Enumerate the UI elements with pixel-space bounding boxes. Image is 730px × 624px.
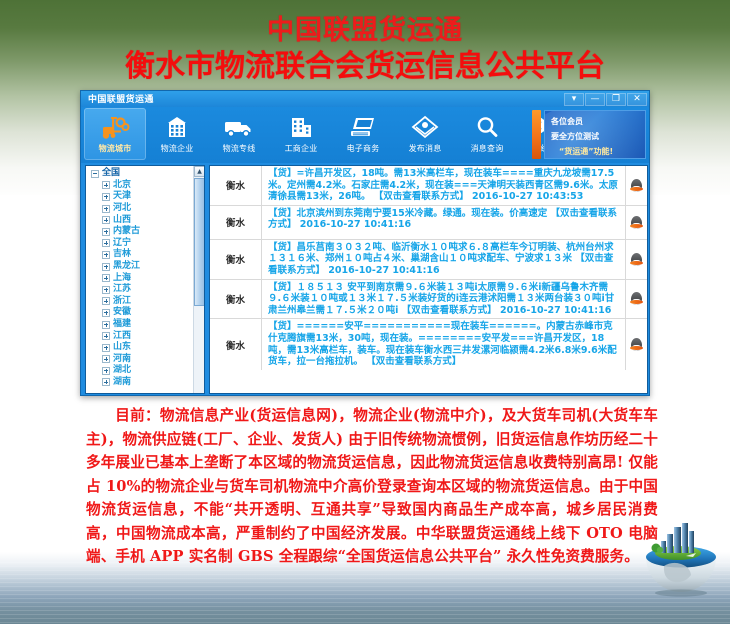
page-title: 中国联盟货运通 衡水市物流联合会货运信息公共平台	[0, 14, 730, 86]
toolbar-item-label: 消息查询	[471, 143, 504, 154]
close-icon[interactable]: ✕	[627, 93, 647, 106]
promo-banner[interactable]: 各位会员 要全方位测试 “货运通”功能!	[544, 110, 646, 159]
scroll-up-icon[interactable]: ▲	[194, 166, 205, 177]
row-city: 衡水	[210, 240, 262, 279]
tree-node-label: 湖北	[113, 365, 131, 376]
tree-node-jilin[interactable]: 吉林	[89, 249, 204, 261]
tree-node-label: 天津	[113, 191, 131, 202]
tree-node-neimenggu[interactable]: 内蒙古	[89, 226, 204, 238]
toolbar-item-ecommerce[interactable]: 电子商务	[332, 108, 394, 160]
freight-message-list[interactable]: 衡水 【货】=许昌开发区，18吨。需13米高栏车，现在装车====重庆九龙坡需1…	[209, 165, 648, 394]
tree-node-label: 全国	[102, 168, 120, 179]
expand-icon[interactable]	[102, 205, 110, 213]
expand-icon[interactable]	[102, 367, 110, 375]
tree-node-label: 河北	[113, 203, 131, 214]
tree-node-hebei[interactable]: 河北	[89, 203, 204, 215]
row-contact-button[interactable]	[625, 166, 647, 205]
tree-node-label: 河南	[113, 354, 131, 365]
row-city: 衡水	[210, 206, 262, 239]
expand-icon[interactable]	[102, 286, 110, 294]
tree-node-label: 内蒙古	[113, 226, 140, 237]
window-content: 全国 北京 天津 河北 山西 内蒙古 辽宁 吉林 黑龙江 上海 江苏 浙江 安徽…	[81, 163, 650, 396]
toolbar-item-label: 物流专线	[223, 143, 256, 154]
tree-node-label: 山东	[113, 342, 131, 353]
tree-node-root[interactable]: 全国	[89, 168, 204, 180]
promo-banner-line3: “货运通”功能!	[551, 144, 641, 159]
tree-node-label: 浙江	[113, 296, 131, 307]
expand-icon[interactable]	[102, 309, 110, 317]
toolbar-item-label: 电子商务	[347, 143, 380, 154]
computer-icon	[349, 112, 377, 142]
row-city: 衡水	[210, 166, 262, 205]
minimize-icon[interactable]: —	[585, 93, 605, 106]
expand-icon[interactable]	[102, 321, 110, 329]
expand-icon[interactable]	[102, 193, 110, 201]
row-contact-button[interactable]	[625, 319, 647, 369]
maximize-icon[interactable]: ❐	[606, 93, 626, 106]
row-contact-button[interactable]	[625, 280, 647, 319]
promo-banner-line1: 各位会员	[551, 114, 641, 129]
tree-node-anhui[interactable]: 安徽	[89, 307, 204, 319]
toolbar-item-logistics-enterprise[interactable]: 物流企业	[146, 108, 208, 160]
table-row[interactable]: 衡水 【货】======安平===========现在装车======。内蒙古赤…	[210, 319, 647, 369]
toolbar-item-label: 发布消息	[409, 143, 442, 154]
expand-icon[interactable]	[102, 181, 110, 189]
region-tree-panel: 全国 北京 天津 河北 山西 内蒙古 辽宁 吉林 黑龙江 上海 江苏 浙江 安徽…	[85, 165, 205, 394]
tree-node-label: 吉林	[113, 249, 131, 260]
tree-node-hubei[interactable]: 湖北	[89, 365, 204, 377]
row-message[interactable]: 【货】======安平===========现在装车======。内蒙古赤峰市克…	[262, 319, 625, 369]
envelope-icon	[411, 112, 439, 142]
window-controls: ▾ — ❐ ✕	[564, 91, 647, 107]
scrollbar-thumb[interactable]	[194, 178, 205, 306]
collapse-icon[interactable]	[91, 170, 99, 178]
expand-icon[interactable]	[102, 251, 110, 259]
toolbar-separator	[532, 110, 541, 159]
row-message[interactable]: 【货】北京滨州到东莞南宁要15米冷藏。绿通。现在装。价高速定 【双击查看联系方式…	[262, 206, 625, 239]
tree-node-label: 福建	[113, 319, 131, 330]
table-row[interactable]: 衡水 【货】昌乐莒南３０３２吨、临沂衡水１０吨求６.８高栏车今订明装、杭州台州求…	[210, 240, 647, 280]
toolbar-item-publish-message[interactable]: 发布消息	[394, 108, 456, 160]
expand-icon[interactable]	[102, 228, 110, 236]
row-message[interactable]: 【货】昌乐莒南３０３２吨、临沂衡水１０吨求６.８高栏车今订明装、杭州台州求１３１…	[262, 240, 625, 279]
globe-city-graphic	[640, 517, 722, 599]
toolbar-item-label: 物流企业	[161, 143, 194, 154]
qq-icon[interactable]	[631, 253, 642, 266]
description-paragraph: 目前：物流信息产业(货运信息网)，物流企业(物流中介)，及大货车司机(大货车车主…	[86, 404, 658, 569]
application-window: 中国联盟货运通 ▾ — ❐ ✕ 物流城市	[80, 90, 650, 396]
forklift-icon	[100, 112, 130, 142]
tree-node-label: 江苏	[113, 284, 131, 295]
tree-node-shanxi[interactable]: 山西	[89, 214, 204, 226]
office-building-icon	[288, 112, 315, 142]
tree-node-shanghai[interactable]: 上海	[89, 272, 204, 284]
tree-node-shandong[interactable]: 山东	[89, 342, 204, 354]
qq-icon[interactable]	[631, 292, 642, 305]
building-icon	[164, 112, 190, 142]
tree-node-label: 江西	[113, 331, 131, 342]
tree-node-label: 安徽	[113, 307, 131, 318]
promo-banner-line2: 要全方位测试	[551, 129, 641, 144]
page-title-line2: 衡水市物流联合会货运信息公共平台	[0, 48, 730, 86]
expand-icon[interactable]	[102, 274, 110, 282]
expand-icon[interactable]	[102, 297, 110, 305]
region-tree: 全国 北京 天津 河北 山西 内蒙古 辽宁 吉林 黑龙江 上海 江苏 浙江 安徽…	[86, 166, 204, 388]
menu-dropdown-icon[interactable]: ▾	[564, 93, 584, 106]
tree-node-label: 北京	[113, 180, 131, 191]
tree-node-jiangxi[interactable]: 江西	[89, 330, 204, 342]
tree-node-zhejiang[interactable]: 浙江	[89, 296, 204, 308]
page-title-line1: 中国联盟货运通	[0, 14, 730, 48]
truck-icon	[224, 112, 254, 142]
qq-icon[interactable]	[631, 216, 642, 229]
main-toolbar: 物流城市 物流企业	[81, 107, 649, 163]
qq-icon[interactable]	[631, 338, 642, 351]
table-row[interactable]: 衡水 【货】１８５１３ 安平到南京需９.６米装１３吨ⅰ太原需９.６米ⅰ新疆乌鲁木…	[210, 280, 647, 320]
tree-node-label: 湖南	[113, 377, 131, 388]
tree-node-fujian[interactable]: 福建	[89, 319, 204, 331]
expand-icon[interactable]	[102, 263, 110, 271]
row-city: 衡水	[210, 280, 262, 319]
row-contact-button[interactable]	[625, 206, 647, 239]
expand-icon[interactable]	[102, 332, 110, 340]
row-city: 衡水	[210, 319, 262, 369]
search-icon	[474, 112, 500, 142]
tree-node-heilongjiang[interactable]: 黑龙江	[89, 261, 204, 273]
tree-node-jiangsu[interactable]: 江苏	[89, 284, 204, 296]
toolbar-item-logistics-line[interactable]: 物流专线	[208, 108, 270, 160]
tree-node-henan[interactable]: 河南	[89, 354, 204, 366]
tree-node-tianjin[interactable]: 天津	[89, 191, 204, 203]
toolbar-item-business-enterprise[interactable]: 工商企业	[270, 108, 332, 160]
toolbar-item-label: 物流城市	[99, 143, 132, 154]
row-contact-button[interactable]	[625, 240, 647, 279]
tree-node-label: 黑龙江	[113, 261, 140, 272]
window-titlebar[interactable]: 中国联盟货运通 ▾ — ❐ ✕	[81, 91, 649, 107]
expand-icon[interactable]	[102, 378, 110, 386]
row-message[interactable]: 【货】=许昌开发区，18吨。需13米高栏车，现在装车====重庆九龙坡需17.5…	[262, 166, 625, 205]
window-title: 中国联盟货运通	[88, 92, 154, 105]
expand-icon[interactable]	[102, 216, 110, 224]
row-message[interactable]: 【货】１８５１３ 安平到南京需９.６米装１３吨ⅰ太原需９.６米ⅰ新疆乌鲁木齐需９…	[262, 280, 625, 319]
expand-icon[interactable]	[102, 344, 110, 352]
toolbar-item-label: 工商企业	[285, 143, 318, 154]
qq-icon[interactable]	[631, 179, 642, 192]
expand-icon[interactable]	[102, 355, 110, 363]
tree-node-label: 山西	[113, 215, 131, 226]
table-row[interactable]: 衡水 【货】=许昌开发区，18吨。需13米高栏车，现在装车====重庆九龙坡需1…	[210, 166, 647, 206]
table-row[interactable]: 衡水 【货】北京滨州到东莞南宁要15米冷藏。绿通。现在装。价高速定 【双击查看联…	[210, 206, 647, 240]
tree-node-hunan[interactable]: 湖南	[89, 377, 204, 389]
tree-node-liaoning[interactable]: 辽宁	[89, 238, 204, 250]
tree-node-label: 辽宁	[113, 238, 131, 249]
tree-node-beijing[interactable]: 北京	[89, 180, 204, 192]
tree-node-label: 上海	[113, 273, 131, 284]
toolbar-item-logistics-city[interactable]: 物流城市	[84, 108, 146, 160]
tree-scrollbar[interactable]: ▲	[193, 166, 204, 394]
expand-icon[interactable]	[102, 239, 110, 247]
toolbar-item-message-query[interactable]: 消息查询	[456, 108, 518, 160]
